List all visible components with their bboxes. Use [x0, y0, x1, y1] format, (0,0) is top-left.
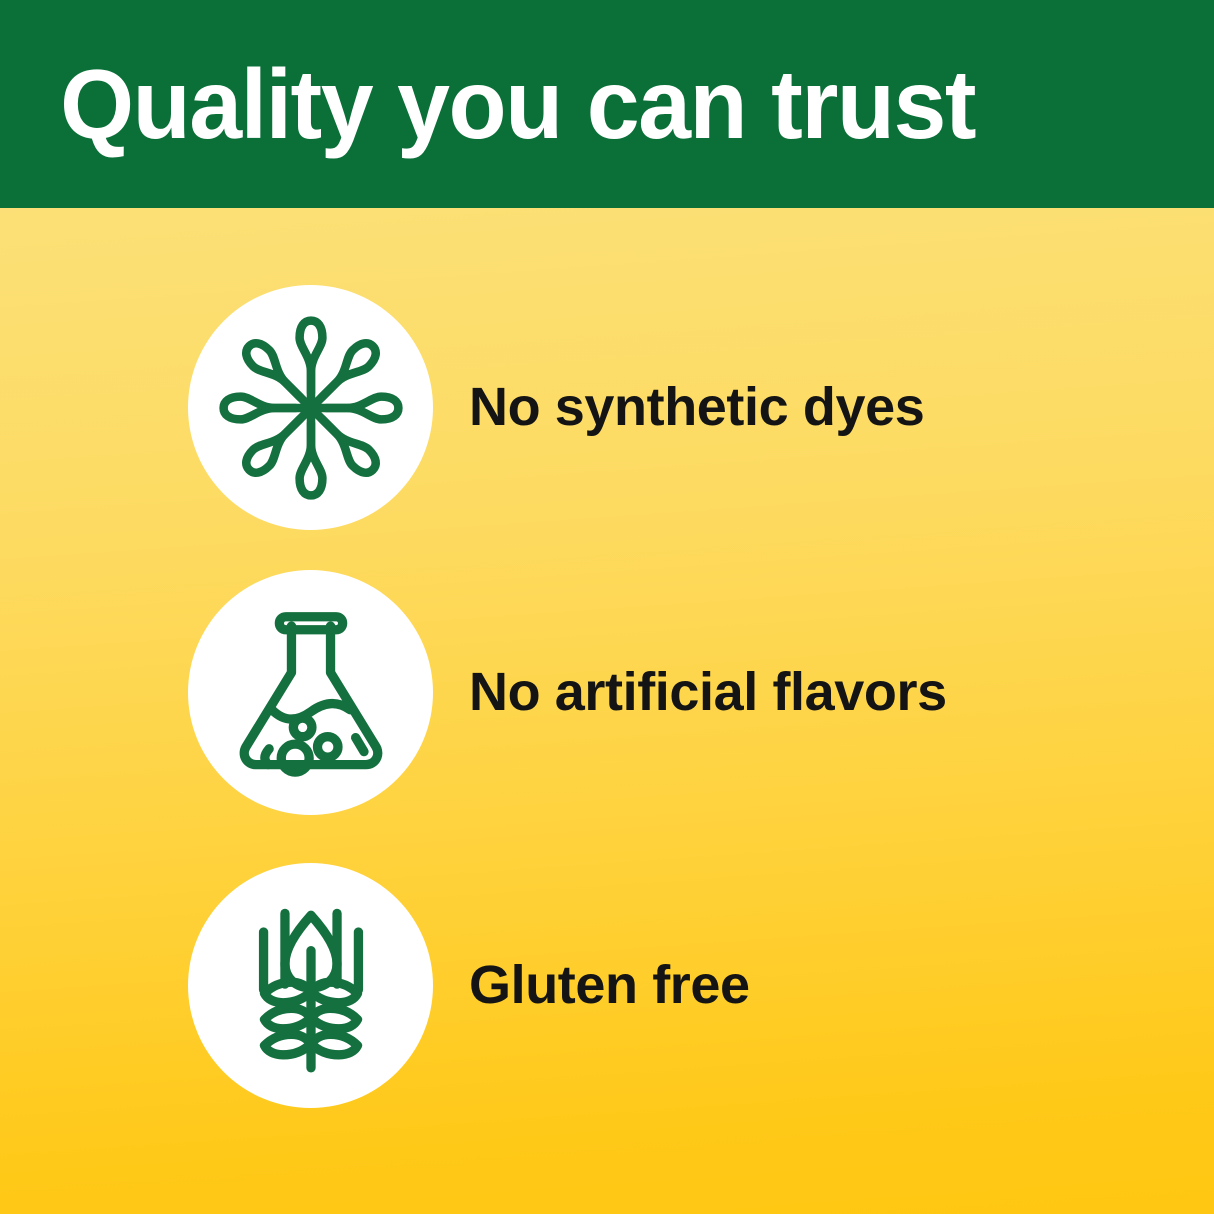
quality-badge-poster: Quality you can trust [0, 0, 1214, 1214]
feature-row: Gluten free [0, 863, 1214, 1108]
wheat-stalk-icon [218, 893, 404, 1079]
feature-label: Gluten free [469, 957, 750, 1014]
dye-droplets-icon [216, 313, 406, 503]
header-banner: Quality you can trust [0, 0, 1214, 208]
feature-panel: No synthetic dyes [0, 208, 1214, 1214]
feature-row: No synthetic dyes [0, 285, 1214, 530]
icon-badge [188, 570, 433, 815]
icon-badge [188, 863, 433, 1108]
feature-label: No synthetic dyes [469, 379, 924, 436]
feature-label: No artificial flavors [469, 664, 947, 721]
feature-row: No artificial flavors [0, 570, 1214, 815]
page-title: Quality you can trust [0, 55, 975, 153]
icon-badge [188, 285, 433, 530]
erlenmeyer-flask-icon [218, 600, 404, 786]
